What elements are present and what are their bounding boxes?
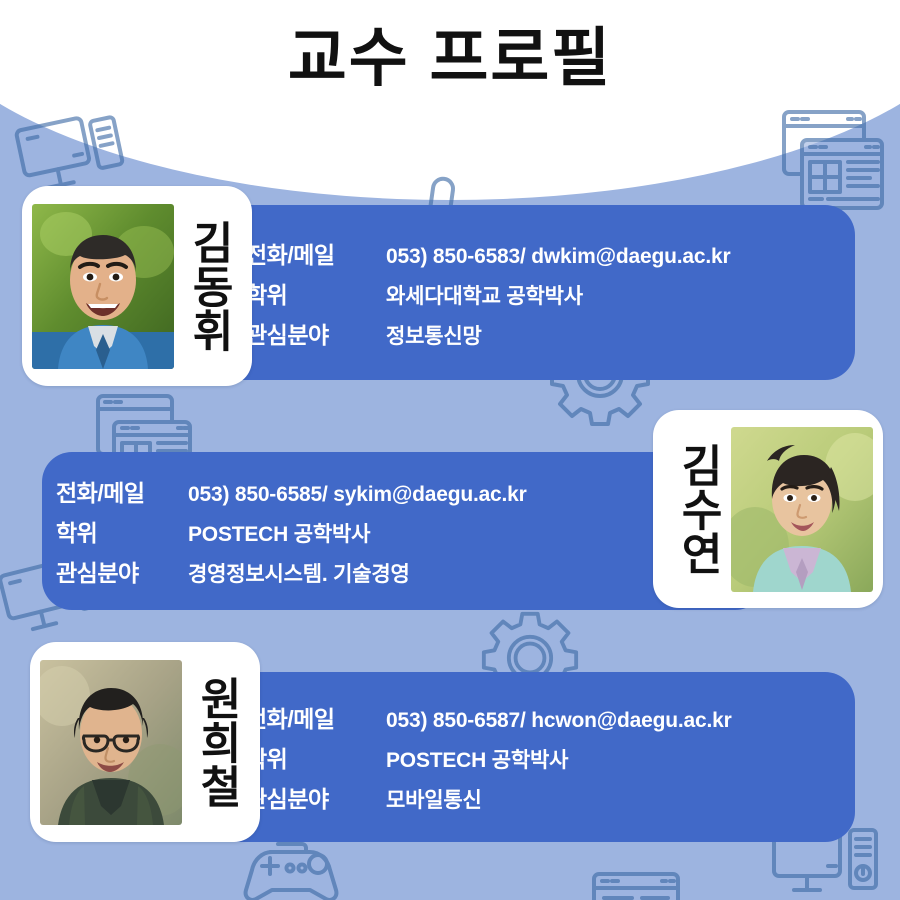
profile-photo-tile: 김수연 xyxy=(653,410,883,608)
profile-photo-tile: 김동휘 xyxy=(22,186,252,386)
interests-value: 모바일통신 xyxy=(386,784,482,814)
contact-label: 전화/메일 xyxy=(56,474,188,508)
interests-label: 관심분야 xyxy=(246,316,386,350)
contact-label: 전화/메일 xyxy=(246,236,386,270)
contact-value: 053) 850-6583/ dwkim@daegu.ac.kr xyxy=(386,245,730,269)
poster-canvas: 교수 프로필 xyxy=(0,0,900,900)
degree-label: 학위 xyxy=(246,276,386,310)
detail-row-interests: 관심분야 정보통신망 xyxy=(246,316,846,350)
profile-details: 전화/메일 053) 850-6585/ sykim@daegu.ac.kr 학… xyxy=(56,466,656,596)
professor-name: 원희철 xyxy=(182,658,250,826)
detail-row-interests: 관심분야 모바일통신 xyxy=(246,780,846,814)
profile-photo-tile: 원희철 xyxy=(30,642,260,842)
detail-row-degree: 학위 POSTECH 공학박사 xyxy=(246,740,846,774)
game-controller-icon xyxy=(238,836,342,900)
interests-value: 정보통신망 xyxy=(386,320,482,350)
detail-row-contact: 전화/메일 053) 850-6583/ dwkim@daegu.ac.kr xyxy=(246,236,846,270)
detail-row-contact: 전화/메일 053) 850-6585/ sykim@daegu.ac.kr xyxy=(56,474,656,508)
detail-row-degree: 학위 와세다대학교 공학박사 xyxy=(246,276,846,310)
degree-label: 학위 xyxy=(56,514,188,548)
avatar xyxy=(32,204,174,369)
contact-value: 053) 850-6587/ hcwon@daegu.ac.kr xyxy=(386,709,732,733)
detail-row-interests: 관심분야 경영정보시스템. 기술경영 xyxy=(56,554,656,588)
contact-label: 전화/메일 xyxy=(246,700,386,734)
detail-row-contact: 전화/메일 053) 850-6587/ hcwon@daegu.ac.kr xyxy=(246,700,846,734)
professor-name: 김수연 xyxy=(663,425,731,593)
interests-label: 관심분야 xyxy=(246,780,386,814)
profile-details: 전화/메일 053) 850-6583/ dwkim@daegu.ac.kr 학… xyxy=(246,228,846,358)
degree-value: POSTECH 공학박사 xyxy=(386,744,568,774)
degree-value: 와세다대학교 공학박사 xyxy=(386,280,583,310)
profile-details: 전화/메일 053) 850-6587/ hcwon@daegu.ac.kr 학… xyxy=(246,692,846,822)
interests-value: 경영정보시스템. 기술경영 xyxy=(188,558,410,588)
contact-value: 053) 850-6585/ sykim@daegu.ac.kr xyxy=(188,483,527,507)
avatar xyxy=(40,660,182,825)
degree-value: POSTECH 공학박사 xyxy=(188,518,370,548)
professor-name: 김동휘 xyxy=(174,202,242,370)
degree-label: 학위 xyxy=(246,740,386,774)
browser-window-icon xyxy=(590,870,682,900)
interests-label: 관심분야 xyxy=(56,554,188,588)
avatar xyxy=(731,427,873,592)
detail-row-degree: 학위 POSTECH 공학박사 xyxy=(56,514,656,548)
page-title: 교수 프로필 xyxy=(0,22,900,96)
